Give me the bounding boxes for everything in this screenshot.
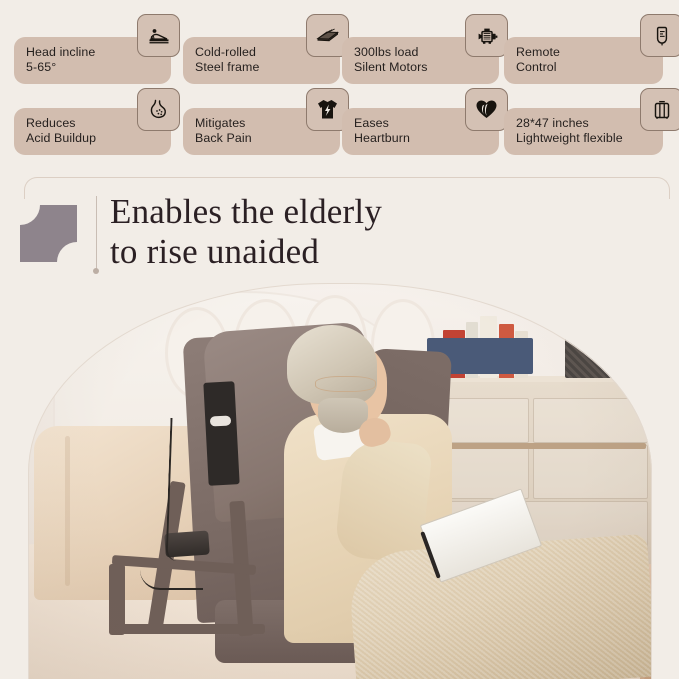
headline-line-2: to rise unaided: [110, 232, 382, 272]
dresser-drawer: [533, 398, 647, 444]
headline-block: Enables the elderly to rise unaided: [0, 196, 679, 286]
feature-text-line: 28*47 inches: [516, 116, 653, 131]
remote-button: [210, 415, 231, 426]
person-hair: [287, 325, 377, 404]
foldable-luggage-icon: [640, 88, 679, 131]
electric-motor-icon: [465, 14, 508, 57]
person-arm: [334, 437, 433, 564]
stomach-icon: [137, 88, 180, 131]
power-cord: [140, 552, 202, 590]
support-frame-bar: [115, 624, 265, 634]
flower-bouquet: [555, 297, 630, 329]
heart-flame-icon: [465, 88, 508, 131]
feature-text-line: Control: [516, 60, 653, 75]
feature-text-line: Lightweight flexible: [516, 131, 653, 146]
bed-incline-icon: [137, 14, 180, 57]
feature-text-line: Acid Buildup: [26, 131, 161, 146]
remote-side-pocket: [203, 381, 240, 485]
page-title: Enables the elderly to rise unaided: [110, 192, 382, 272]
vertical-rule-dot: [93, 268, 99, 274]
feature-column-4: Remote Control 28*47 inches Lightweight …: [504, 0, 664, 172]
feature-text-line: Silent Motors: [354, 60, 489, 75]
dresser-drawer: [533, 445, 647, 498]
remote-control-icon: [640, 14, 679, 57]
feature-column-2: Cold-rolled Steel frame Mitigates Back P…: [183, 0, 343, 172]
person-glasses: [315, 376, 376, 392]
feature-column-1: Head incline 5-65° Reduces Acid Buildup: [14, 0, 174, 172]
headline-line-1: Enables the elderly: [110, 192, 382, 232]
lifestyle-photo: [28, 283, 652, 679]
notch-top-left: [20, 205, 40, 225]
decorative-block: [20, 205, 77, 262]
feature-text-line: Remote: [516, 45, 653, 60]
notch-bottom-right: [57, 242, 77, 262]
feature-text-line: Steel frame: [195, 60, 330, 75]
photo-scene: [28, 283, 652, 679]
feature-grid: Head incline 5-65° Reduces Acid Buildup: [0, 0, 679, 172]
feature-column-3: 300lbs load Silent Motors Eases Heartbur…: [342, 0, 502, 172]
product-infographic-page: Head incline 5-65° Reduces Acid Buildup: [0, 0, 679, 679]
feature-text-line: 5-65°: [26, 60, 161, 75]
feature-text-line: Back Pain: [195, 131, 330, 146]
feature-text-line: Heartburn: [354, 131, 489, 146]
vertical-rule: [96, 196, 97, 271]
picture-frame: [624, 334, 651, 380]
